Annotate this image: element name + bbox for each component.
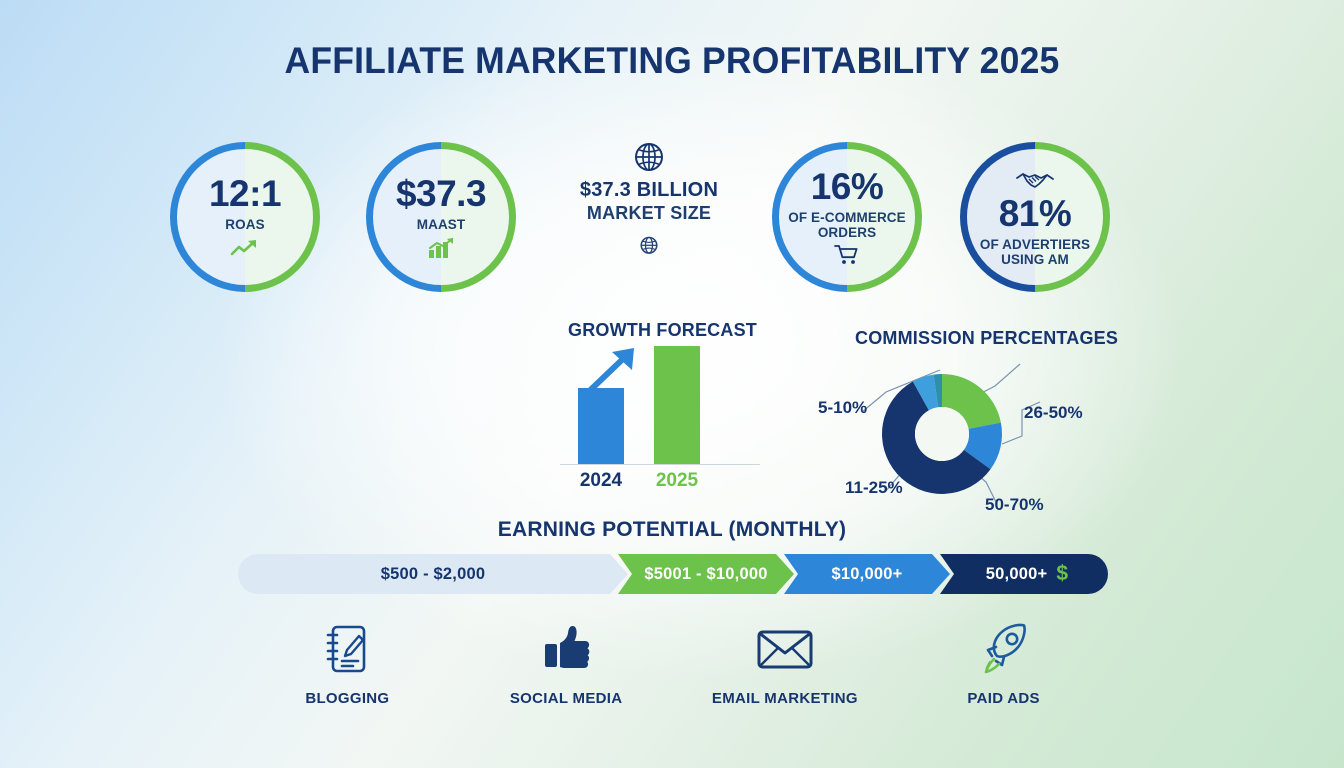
thumbs-up-icon (539, 620, 593, 678)
handshake-icon (1015, 167, 1055, 193)
rocket-icon (977, 620, 1031, 678)
channel-social-media[interactable]: SOCIAL MEDIA (457, 620, 676, 730)
kpi-value: $37.3 BILLION (580, 179, 718, 203)
kpi-value: 16% (811, 168, 884, 205)
donut-label-26-50: 26-50% (1024, 403, 1083, 423)
kpi-card-maast[interactable]: $37.3 MAAST (366, 142, 516, 292)
bar-2025: 2025 (654, 346, 700, 464)
earning-segment-4[interactable]: 50,000+ $ (940, 554, 1108, 594)
arrow-up-right-icon (576, 342, 646, 404)
channel-blogging-label: BLOGGING (305, 690, 389, 707)
notebook-pencil-icon (321, 620, 373, 678)
growth-forecast-chart: 2024 2025 (560, 348, 760, 478)
trending-up-icon (230, 237, 260, 259)
donut-label-5-10: 5-10% (818, 398, 867, 418)
kpi-card-advertisers[interactable]: 81% OF ADVERTIERS USING AM (960, 142, 1110, 292)
channel-blogging[interactable]: BLOGGING (238, 620, 457, 730)
bar-label-2024: 2024 (578, 470, 624, 492)
kpi-row: 12:1 ROAS $37.3 MAAST (170, 142, 1180, 314)
globe-icon (632, 140, 666, 179)
donut-segments (882, 374, 1002, 494)
kpi-value: 81% (999, 195, 1072, 232)
kpi-card-roas[interactable]: 12:1 ROAS (170, 142, 320, 292)
page-title: AFFILIATE MARKETING PROFITABILITY 2025 (27, 40, 1317, 82)
kpi-label: OF E-COMMERCE ORDERS (781, 210, 913, 240)
envelope-icon (755, 620, 815, 678)
channel-email-marketing-label: EMAIL MARKETING (712, 690, 858, 707)
kpi-label: ROAS (225, 217, 264, 232)
donut-label-11-25: 11-25% (845, 478, 903, 498)
earning-segment-2[interactable]: $5001 - $10,000 (618, 554, 794, 594)
infographic-canvas: AFFILIATE MARKETING PROFITABILITY 2025 1… (0, 0, 1344, 768)
channel-email-marketing[interactable]: EMAIL MARKETING (676, 620, 895, 730)
kpi-card-market-size[interactable]: $37.3 BILLION MARKET SIZE (560, 140, 738, 300)
channel-paid-ads-label: PAID ADS (967, 690, 1039, 707)
kpi-card-ecommerce-orders[interactable]: 16% OF E-COMMERCE ORDERS (772, 142, 922, 292)
bar-chart-icon (426, 237, 456, 259)
channel-social-media-label: SOCIAL MEDIA (510, 690, 623, 707)
earning-segment-3-label: $10,000+ (832, 565, 903, 584)
dollar-sign-icon: $ (1056, 562, 1068, 586)
kpi-label: MAAST (417, 217, 466, 232)
earning-segment-2-label: $5001 - $10,000 (644, 565, 767, 584)
earning-segment-1[interactable]: $500 - $2,000 (238, 554, 628, 594)
globe-icon (637, 234, 661, 263)
kpi-label: OF ADVERTIERS USING AM (970, 237, 1100, 267)
earning-potential-title: EARNING POTENTIAL (MONTHLY) (0, 518, 1344, 542)
shopping-cart-icon (834, 244, 860, 266)
kpi-value: $37.3 (396, 175, 486, 212)
donut-label-50-70: 50-70% (985, 495, 1044, 515)
channel-paid-ads[interactable]: PAID ADS (894, 620, 1113, 730)
commission-title: COMMISSION PERCENTAGES (855, 328, 1118, 349)
bar-label-2025: 2025 (654, 470, 700, 492)
kpi-value: 12:1 (209, 175, 281, 212)
earning-segment-3[interactable]: $10,000+ (784, 554, 950, 594)
growth-forecast-title: GROWTH FORECAST (568, 320, 757, 341)
kpi-label: MARKET SIZE (587, 203, 711, 224)
earning-segment-1-label: $500 - $2,000 (381, 565, 485, 584)
earning-segment-4-label: 50,000+ (986, 565, 1048, 584)
commission-donut-chart (790, 352, 1090, 522)
channel-row: BLOGGING SOCIAL MEDIA EMAIL MARKETIN (238, 620, 1113, 730)
earning-potential-pipeline: $500 - $2,000 $5001 - $10,000 $10,000+ 5… (238, 554, 1113, 594)
